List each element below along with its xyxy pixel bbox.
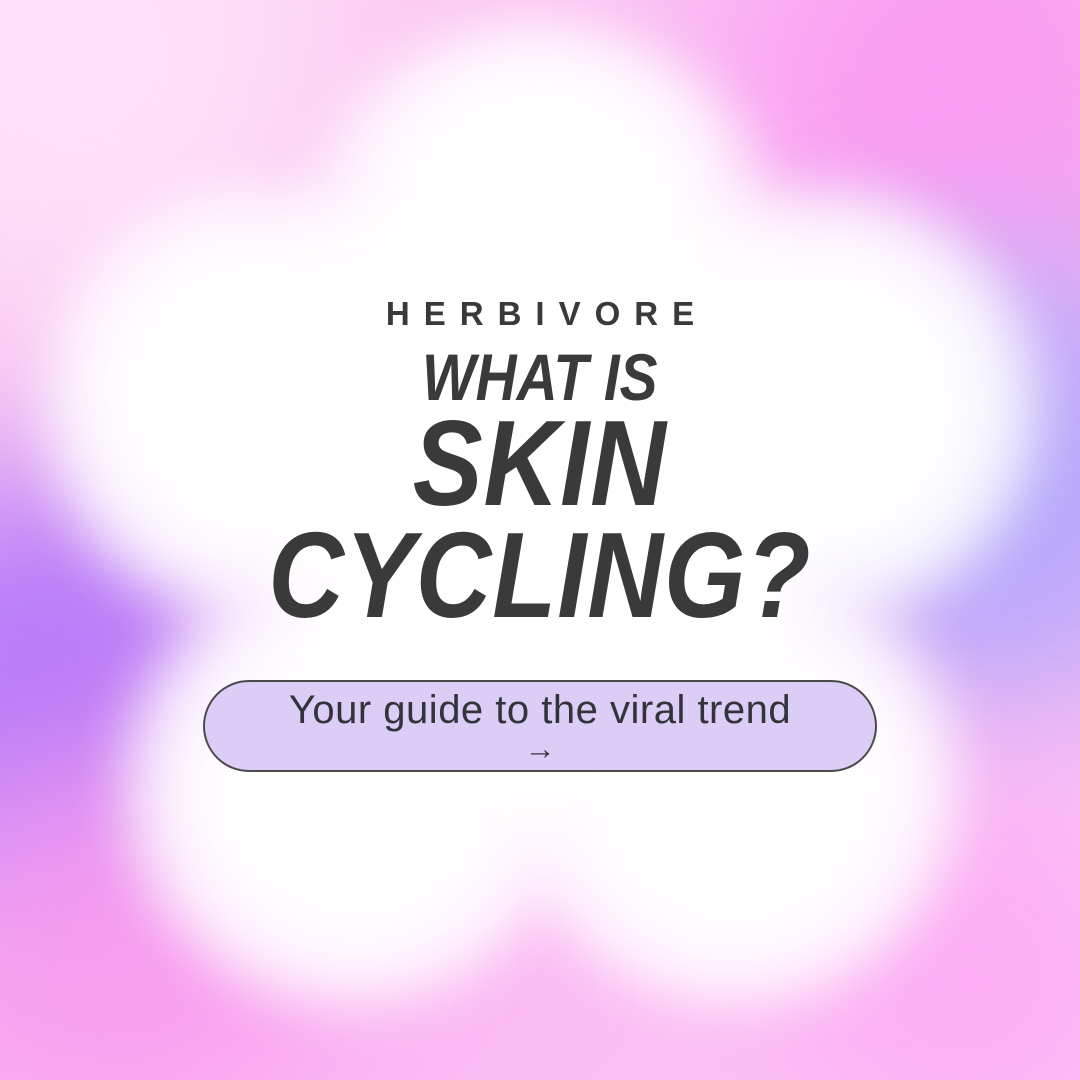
page-title: WHAT IS SKIN CYCLING?	[224, 348, 856, 631]
promo-poster: HERBIVORE WHAT IS SKIN CYCLING? Your gui…	[0, 0, 1080, 1080]
arrow-right-icon: →	[525, 733, 556, 764]
brand-wordmark: HERBIVORE	[372, 297, 708, 330]
poster-content: HERBIVORE WHAT IS SKIN CYCLING? Your gui…	[0, 0, 1080, 1080]
headline-line-2: SKIN	[268, 409, 811, 519]
cta-label: Your guide to the viral trend	[289, 689, 791, 731]
headline-line-3: CYCLING?	[268, 521, 811, 631]
cta-button[interactable]: Your guide to the viral trend →	[203, 680, 877, 772]
